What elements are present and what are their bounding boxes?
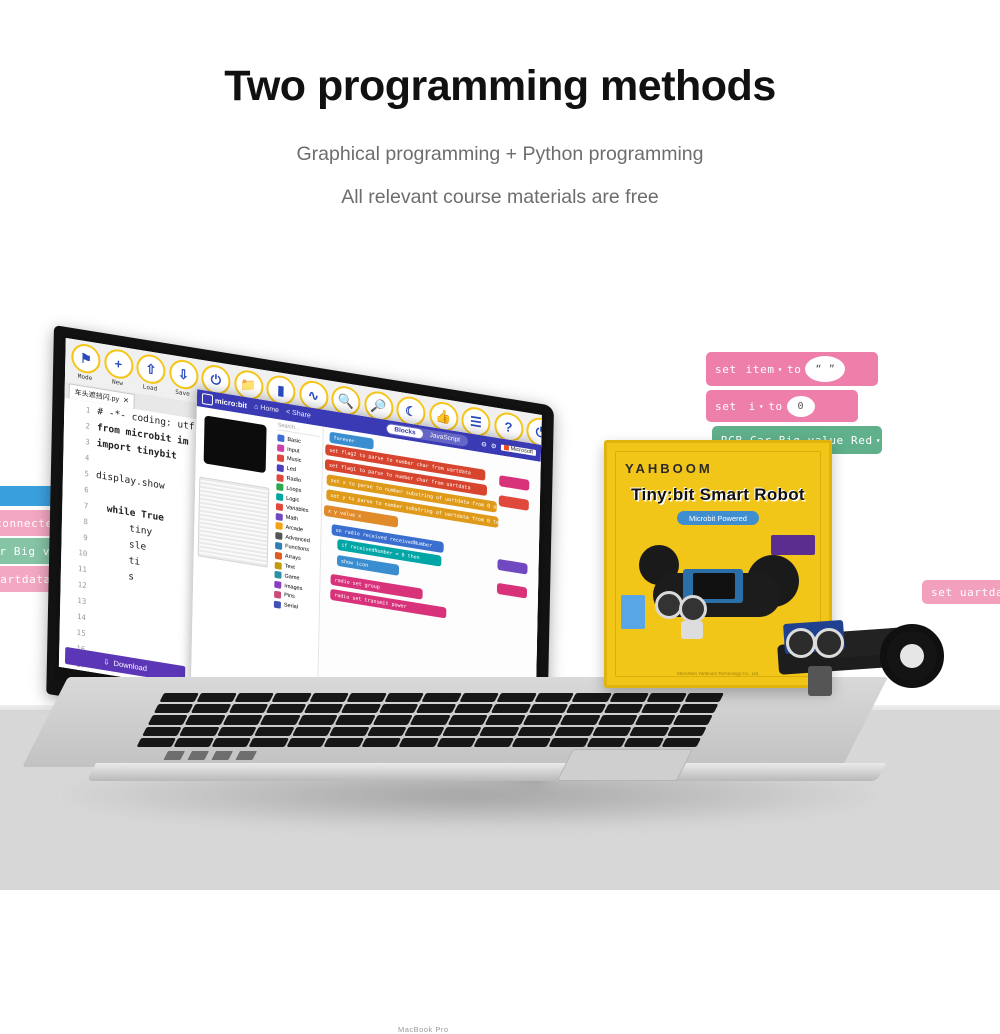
- ultrasonic-eye-right: [814, 628, 844, 658]
- toolbar-button-load[interactable]: ⇧ Load: [136, 349, 165, 393]
- page-subtitle-2: All relevant course materials are free: [0, 188, 1000, 208]
- category-swatch-icon: [277, 454, 284, 462]
- key[interactable]: [399, 738, 439, 747]
- microbit-brand-label: micro:bit: [215, 396, 247, 410]
- share-icon: <: [286, 409, 290, 417]
- simulator-panel[interactable]: [191, 406, 275, 701]
- key[interactable]: [185, 715, 225, 724]
- workspace-block-partial[interactable]: [499, 475, 529, 491]
- key[interactable]: [304, 704, 344, 713]
- key[interactable]: [154, 704, 194, 713]
- heading-group: Two programming methods Graphical progra…: [0, 62, 1000, 207]
- key[interactable]: [485, 715, 525, 724]
- key[interactable]: [517, 727, 557, 736]
- nav-label: Home: [260, 404, 279, 414]
- download-label: Download: [113, 659, 147, 673]
- product-title-text: Tiny:bit Smart Robot: [631, 485, 805, 504]
- key[interactable]: [511, 738, 551, 747]
- toolbar-button-mode[interactable]: ⚑ Mode: [71, 339, 100, 383]
- port: [211, 751, 233, 760]
- help-icon[interactable]: ⚙: [491, 441, 497, 450]
- category-swatch-icon: [275, 542, 282, 550]
- workspace-block-partial[interactable]: [497, 583, 527, 599]
- key[interactable]: [442, 727, 482, 736]
- category-swatch-icon: [277, 464, 284, 472]
- page-subtitle-1: Graphical programming + Python programmi…: [0, 145, 1000, 165]
- category-label: Pins: [284, 593, 295, 601]
- key[interactable]: [647, 693, 687, 702]
- toolbar-label: Load: [136, 382, 164, 394]
- key[interactable]: [191, 704, 231, 713]
- line-number: 3: [64, 433, 97, 447]
- key[interactable]: [629, 727, 669, 736]
- port: [187, 751, 209, 760]
- category-label: Led: [287, 466, 296, 473]
- key[interactable]: [592, 727, 632, 736]
- category-swatch-icon: [275, 522, 282, 530]
- makecode-nav-share[interactable]: < Share: [286, 409, 311, 420]
- line-number: 14: [60, 608, 93, 622]
- close-icon[interactable]: ✕: [123, 396, 129, 405]
- line-number: 6: [63, 481, 96, 495]
- microsoft-logo: Microsoft: [501, 444, 536, 456]
- category-swatch-icon: [275, 552, 282, 560]
- key[interactable]: [266, 704, 306, 713]
- key[interactable]: [292, 727, 332, 736]
- category-swatch-icon: [274, 571, 281, 579]
- key[interactable]: [174, 738, 214, 747]
- tinybit-robot-car: [770, 600, 950, 708]
- key[interactable]: [560, 715, 600, 724]
- key[interactable]: [523, 715, 563, 724]
- key[interactable]: [586, 738, 626, 747]
- line-number: 11: [61, 561, 94, 575]
- key[interactable]: [211, 738, 251, 747]
- key[interactable]: [661, 738, 701, 747]
- key[interactable]: [229, 704, 269, 713]
- key[interactable]: [335, 715, 375, 724]
- line-number: 8: [62, 513, 95, 527]
- key[interactable]: [667, 727, 707, 736]
- key[interactable]: [286, 738, 326, 747]
- microbit-mark-icon: [202, 393, 213, 406]
- category-label: Game: [284, 573, 299, 581]
- key[interactable]: [384, 693, 424, 702]
- breadboard-image: [198, 477, 270, 568]
- line-number: 7: [62, 497, 95, 511]
- key[interactable]: [197, 693, 237, 702]
- key[interactable]: [180, 727, 220, 736]
- key[interactable]: [260, 715, 300, 724]
- laptop-front-edge: [87, 763, 886, 781]
- category-swatch-icon: [276, 493, 283, 501]
- upload-icon: ⇧: [136, 352, 166, 386]
- key[interactable]: [684, 693, 724, 702]
- key[interactable]: [223, 715, 263, 724]
- category-label: Basic: [287, 437, 301, 445]
- key[interactable]: [673, 715, 713, 724]
- gear-icon[interactable]: ⚙: [481, 440, 487, 449]
- toolbar-label: Mode: [71, 372, 99, 384]
- key[interactable]: [491, 704, 531, 713]
- key[interactable]: [367, 727, 407, 736]
- category-label: Logic: [286, 495, 299, 503]
- key[interactable]: [480, 727, 520, 736]
- category-label: Text: [285, 563, 295, 571]
- line-number: 9: [62, 529, 95, 543]
- key[interactable]: [148, 715, 188, 724]
- category-swatch-icon: [275, 561, 282, 569]
- key[interactable]: [159, 693, 199, 702]
- category-swatch-icon: [274, 600, 281, 608]
- download-icon: ⇩: [103, 657, 109, 667]
- home-icon: ⌂: [254, 403, 258, 411]
- line-number: 10: [61, 545, 94, 559]
- category-label: Math: [286, 515, 298, 523]
- port: [235, 751, 257, 760]
- robot-battery-holder: [808, 666, 832, 696]
- line-number: 1: [64, 401, 97, 415]
- key[interactable]: [330, 727, 370, 736]
- key[interactable]: [410, 715, 450, 724]
- category-label: Input: [287, 446, 299, 454]
- product-title: Tiny:bit Smart Robot: [607, 485, 829, 505]
- line-number: 15: [60, 624, 93, 638]
- laptop-brand-label: MacBook Pro: [398, 1025, 449, 1034]
- category-swatch-icon: [275, 532, 282, 540]
- key[interactable]: [234, 693, 274, 702]
- microsoft-square-icon: [504, 445, 509, 451]
- key[interactable]: [309, 693, 349, 702]
- key[interactable]: [609, 693, 649, 702]
- category-swatch-icon: [276, 474, 283, 482]
- caster-wheel: [681, 621, 703, 639]
- port: [163, 751, 185, 760]
- key[interactable]: [474, 738, 514, 747]
- key[interactable]: [373, 715, 413, 724]
- key[interactable]: [136, 738, 176, 747]
- category-label: Serial: [284, 602, 298, 610]
- key[interactable]: [459, 693, 499, 702]
- block-text: set uartdata: [931, 586, 1000, 599]
- block-category-palette[interactable]: Search... Basic Input Music Led Radio Lo…: [269, 419, 324, 709]
- product-badge: Microbit Powered: [677, 511, 759, 525]
- brand-logo: YAHBOOM: [625, 461, 713, 476]
- category-swatch-icon: [277, 435, 284, 443]
- category-swatch-icon: [274, 581, 281, 589]
- flag-icon: ⚑: [71, 342, 101, 376]
- category-swatch-icon: [274, 591, 281, 599]
- key[interactable]: [566, 704, 606, 713]
- makecode-nav-home[interactable]: ⌂ Home: [254, 403, 279, 414]
- category-swatch-icon: [277, 444, 284, 452]
- key[interactable]: [436, 738, 476, 747]
- key[interactable]: [272, 693, 312, 702]
- trackpad[interactable]: [557, 749, 693, 781]
- key[interactable]: [549, 738, 589, 747]
- category-swatch-icon: [276, 513, 283, 521]
- key[interactable]: [641, 704, 681, 713]
- key[interactable]: [298, 715, 338, 724]
- category-swatch-icon: [276, 503, 283, 511]
- workspace-block-partial[interactable]: [497, 559, 527, 575]
- category-label: Loops: [286, 485, 301, 493]
- line-number: 13: [60, 593, 93, 607]
- tab-blocks[interactable]: Blocks: [387, 424, 423, 439]
- key[interactable]: [453, 704, 493, 713]
- plus-icon: +: [104, 347, 134, 381]
- category-label: Music: [287, 456, 302, 464]
- page-title: Two programming methods: [0, 62, 1000, 111]
- key[interactable]: [379, 704, 419, 713]
- key[interactable]: [635, 715, 675, 724]
- key[interactable]: [624, 738, 664, 747]
- microbit-simulator[interactable]: [204, 415, 267, 473]
- toolbar-button-save[interactable]: ⇩ Save: [168, 355, 197, 399]
- line-number: 5: [63, 465, 96, 479]
- toolbar-label: New: [103, 377, 131, 389]
- key[interactable]: [361, 738, 401, 747]
- key[interactable]: [142, 727, 182, 736]
- key[interactable]: [217, 727, 257, 736]
- robot-wheel-hub: [900, 644, 924, 668]
- laptop-base: MacBook Pro: [68, 677, 888, 797]
- key[interactable]: [448, 715, 488, 724]
- microsoft-label: Microsoft: [511, 445, 533, 455]
- ultrasonic-eye-right: [679, 595, 707, 623]
- line-number: 2: [64, 417, 97, 431]
- nav-label: Share: [292, 410, 311, 420]
- keyboard[interactable]: [136, 693, 724, 747]
- line-number: 4: [63, 449, 96, 463]
- key[interactable]: [572, 693, 612, 702]
- line-number: 12: [61, 577, 94, 591]
- key[interactable]: [347, 693, 387, 702]
- key[interactable]: [249, 738, 289, 747]
- key[interactable]: [255, 727, 295, 736]
- key[interactable]: [598, 715, 638, 724]
- key[interactable]: [603, 704, 643, 713]
- toolbar-label: Save: [168, 388, 196, 400]
- ultrasonic-eye-left: [786, 628, 816, 658]
- key[interactable]: [422, 693, 462, 702]
- key[interactable]: [324, 738, 364, 747]
- key[interactable]: [341, 704, 381, 713]
- category-label: Radio: [287, 476, 302, 484]
- key[interactable]: [405, 727, 445, 736]
- microbit-screen: [693, 573, 735, 599]
- key[interactable]: [534, 693, 574, 702]
- key[interactable]: [554, 727, 594, 736]
- key[interactable]: [678, 704, 718, 713]
- toolbar-button-new[interactable]: + New: [103, 344, 132, 388]
- download-icon: ⇩: [169, 358, 199, 392]
- key[interactable]: [416, 704, 456, 713]
- key[interactable]: [528, 704, 568, 713]
- category-swatch-icon: [276, 483, 283, 491]
- laptop-ports: [162, 751, 318, 763]
- key[interactable]: [497, 693, 537, 702]
